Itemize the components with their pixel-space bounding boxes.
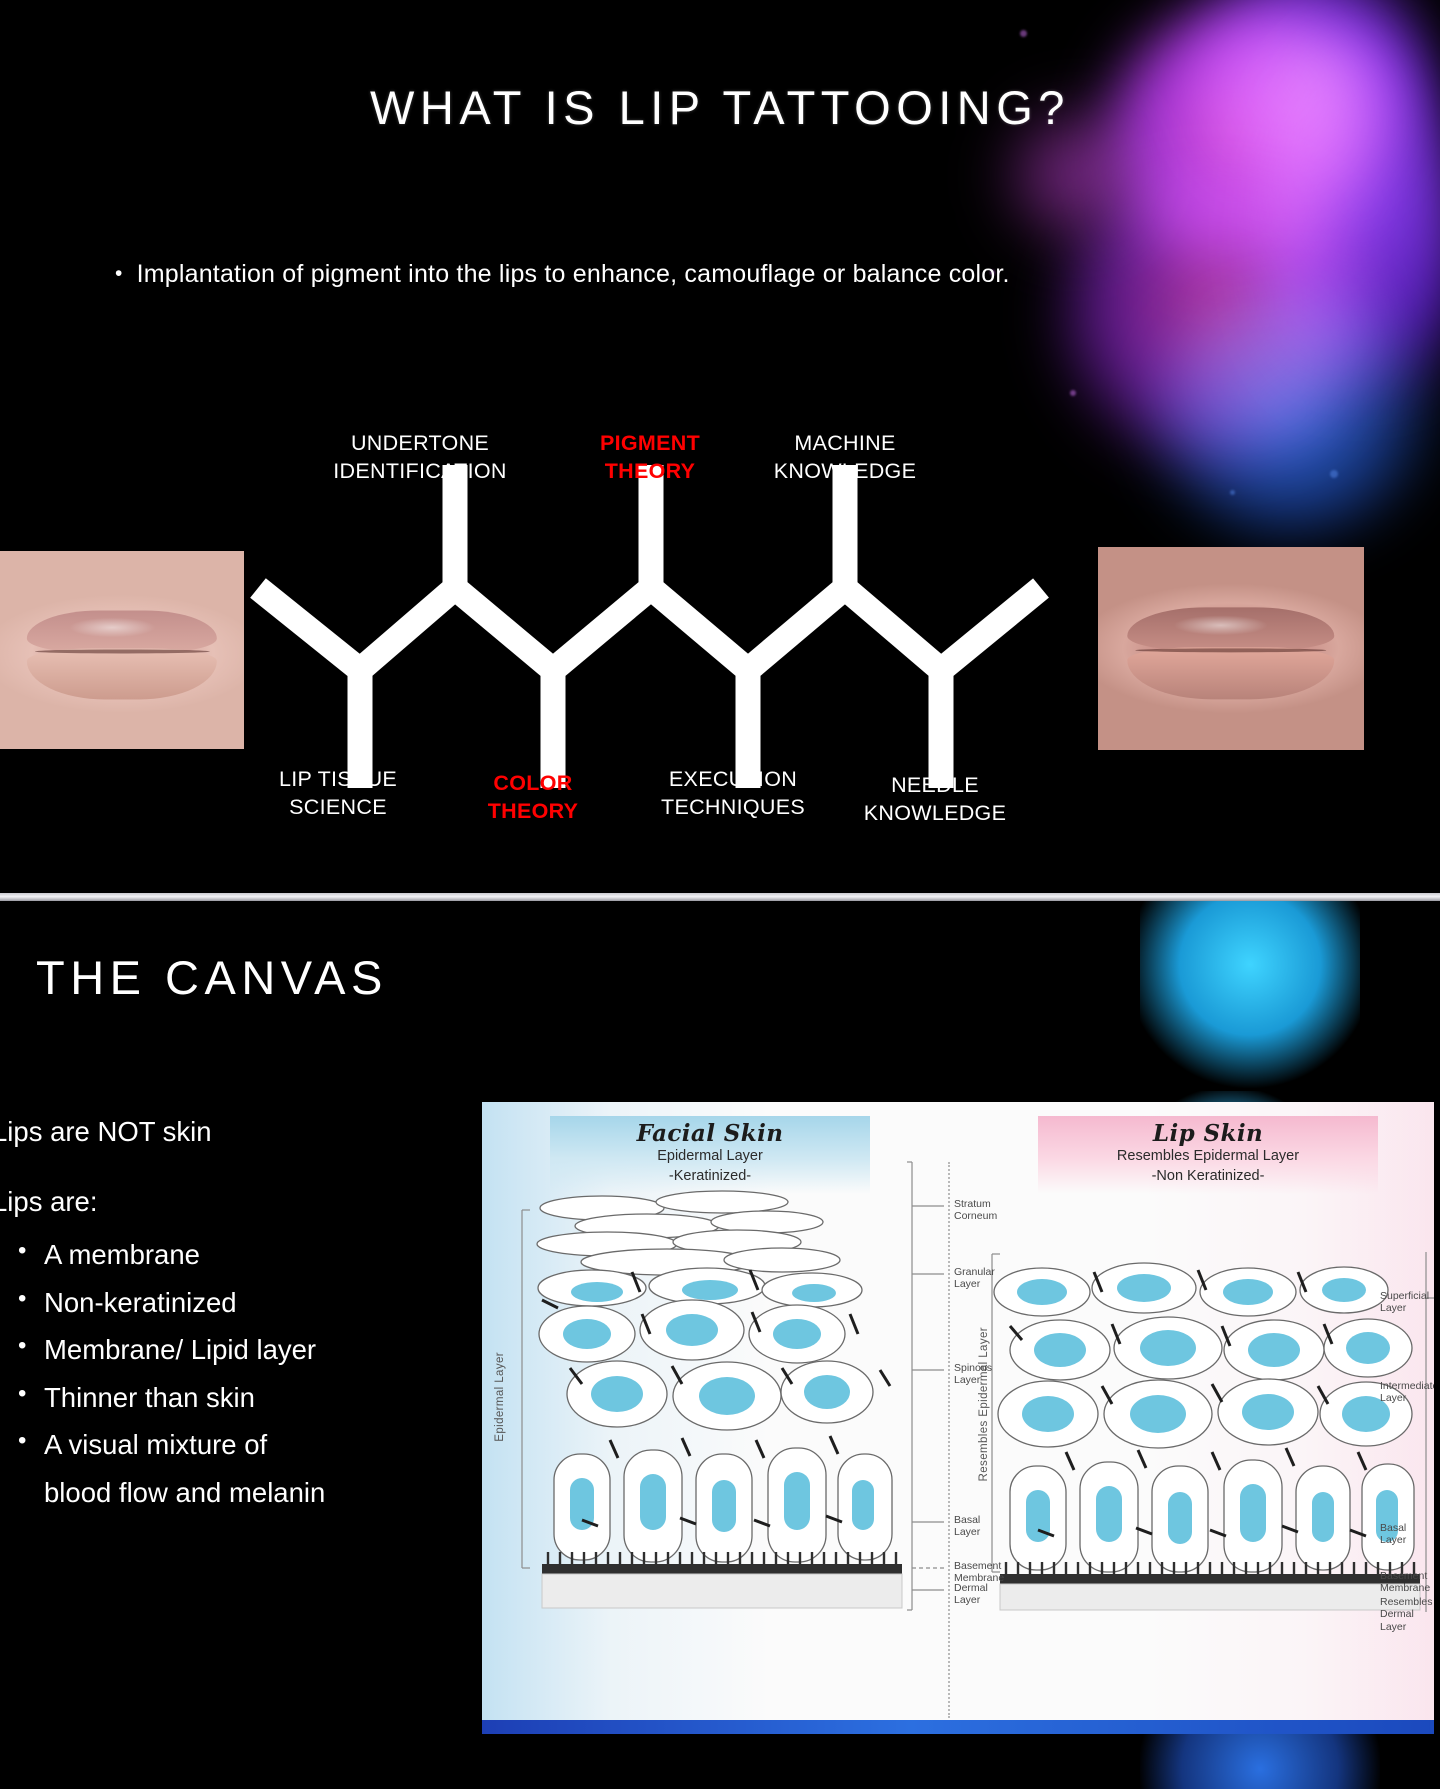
layer-tag-dermal-layer: Dermal Layer	[954, 1582, 988, 1607]
diagram-label-execution-techniques: EXECUTION TECHNIQUES	[618, 765, 848, 822]
slide-divider	[0, 893, 1440, 901]
slide2-lead-text: Lips are NOT skin	[0, 1108, 462, 1156]
label-line-1: MACHINE	[740, 429, 950, 457]
figure-bottom-band	[482, 1720, 1434, 1734]
label-line-2: THEORY	[565, 457, 735, 485]
slide2-title: THE CANVAS	[36, 950, 388, 1005]
layer-tag-stratum-corneum: Stratum Corneum	[954, 1198, 997, 1223]
diagram-label-undertone-identification: UNDERTONE IDENTIFICATION	[300, 429, 540, 486]
slide1-bullet-text: Implantation of pigment into the lips to…	[137, 260, 1010, 289]
list-item: A visual mixture of blood flow and melan…	[14, 1421, 462, 1516]
layer-tag-spinous-layer: Spinous Layer	[954, 1362, 992, 1387]
presentation-deck: WHAT IS LIP TATTOOING? • Implantation of…	[0, 0, 1440, 1789]
label-line-2: KNOWLEDGE	[740, 457, 950, 485]
label-line-1: PIGMENT	[565, 429, 735, 457]
label-line-2: KNOWLEDGE	[835, 799, 1035, 827]
label-line-2: IDENTIFICATION	[300, 457, 540, 485]
diagram-label-machine-knowledge: MACHINE KNOWLEDGE	[740, 429, 950, 486]
list-item: Membrane/ Lipid layer	[14, 1326, 462, 1374]
label-line-1: NEEDLE	[835, 771, 1035, 799]
layer-tag-lip-basal-layer: Basal Layer	[1380, 1522, 1406, 1547]
list-item-line-2: blood flow and melanin	[44, 1469, 462, 1517]
slide1-title: WHAT IS LIP TATTOOING?	[0, 80, 1440, 135]
label-line-2: THEORY	[448, 797, 618, 825]
slide2-bullet-list: A membrane Non-keratinized Membrane/ Lip…	[0, 1231, 462, 1516]
list-item-line-1: A visual mixture of	[44, 1429, 267, 1460]
diagram-label-needle-knowledge: NEEDLE KNOWLEDGE	[835, 771, 1035, 828]
slide-what-is-lip-tattooing: WHAT IS LIP TATTOOING? • Implantation of…	[0, 0, 1440, 893]
bullet-marker-icon: •	[115, 260, 123, 288]
skin-vs-lip-anatomy-figure: Facial Skin Epidermal Layer -Keratinized…	[482, 1102, 1434, 1734]
diagram-label-pigment-theory: PIGMENT THEORY	[565, 429, 735, 486]
slide1-bullet-item: • Implantation of pigment into the lips …	[115, 260, 1010, 289]
label-line-2: SCIENCE	[218, 793, 458, 821]
layer-tag-lip-basement-membrane: Basement Membrane	[1380, 1570, 1430, 1595]
label-line-1: COLOR	[448, 769, 618, 797]
layer-tag-intermediate-layer: Intermediate Layer	[1380, 1380, 1434, 1405]
list-item: A membrane	[14, 1231, 462, 1279]
slide2-text-block: Lips are NOT skin Lips are: A membrane N…	[0, 1108, 462, 1517]
diagram-label-color-theory: COLOR THEORY	[448, 769, 618, 826]
list-item: Thinner than skin	[14, 1374, 462, 1422]
label-line-2: TECHNIQUES	[618, 793, 848, 821]
layer-tag-granular-layer: Granular Layer	[954, 1266, 995, 1291]
slide2-sub-text: Lips are:	[0, 1178, 462, 1226]
layer-tag-basal-layer: Basal Layer	[954, 1514, 980, 1539]
label-line-1: EXECUTION	[618, 765, 848, 793]
layer-tag-resembles-dermal-layer: Resembles Dermal Layer	[1380, 1596, 1434, 1633]
label-line-1: UNDERTONE	[300, 429, 540, 457]
diagram-label-lip-tissue-science: LIP TISSUE SCIENCE	[218, 765, 458, 822]
list-item: Non-keratinized	[14, 1279, 462, 1327]
layer-tag-superficial-layer: Superficial Layer	[1380, 1290, 1429, 1315]
label-line-1: LIP TISSUE	[218, 765, 458, 793]
